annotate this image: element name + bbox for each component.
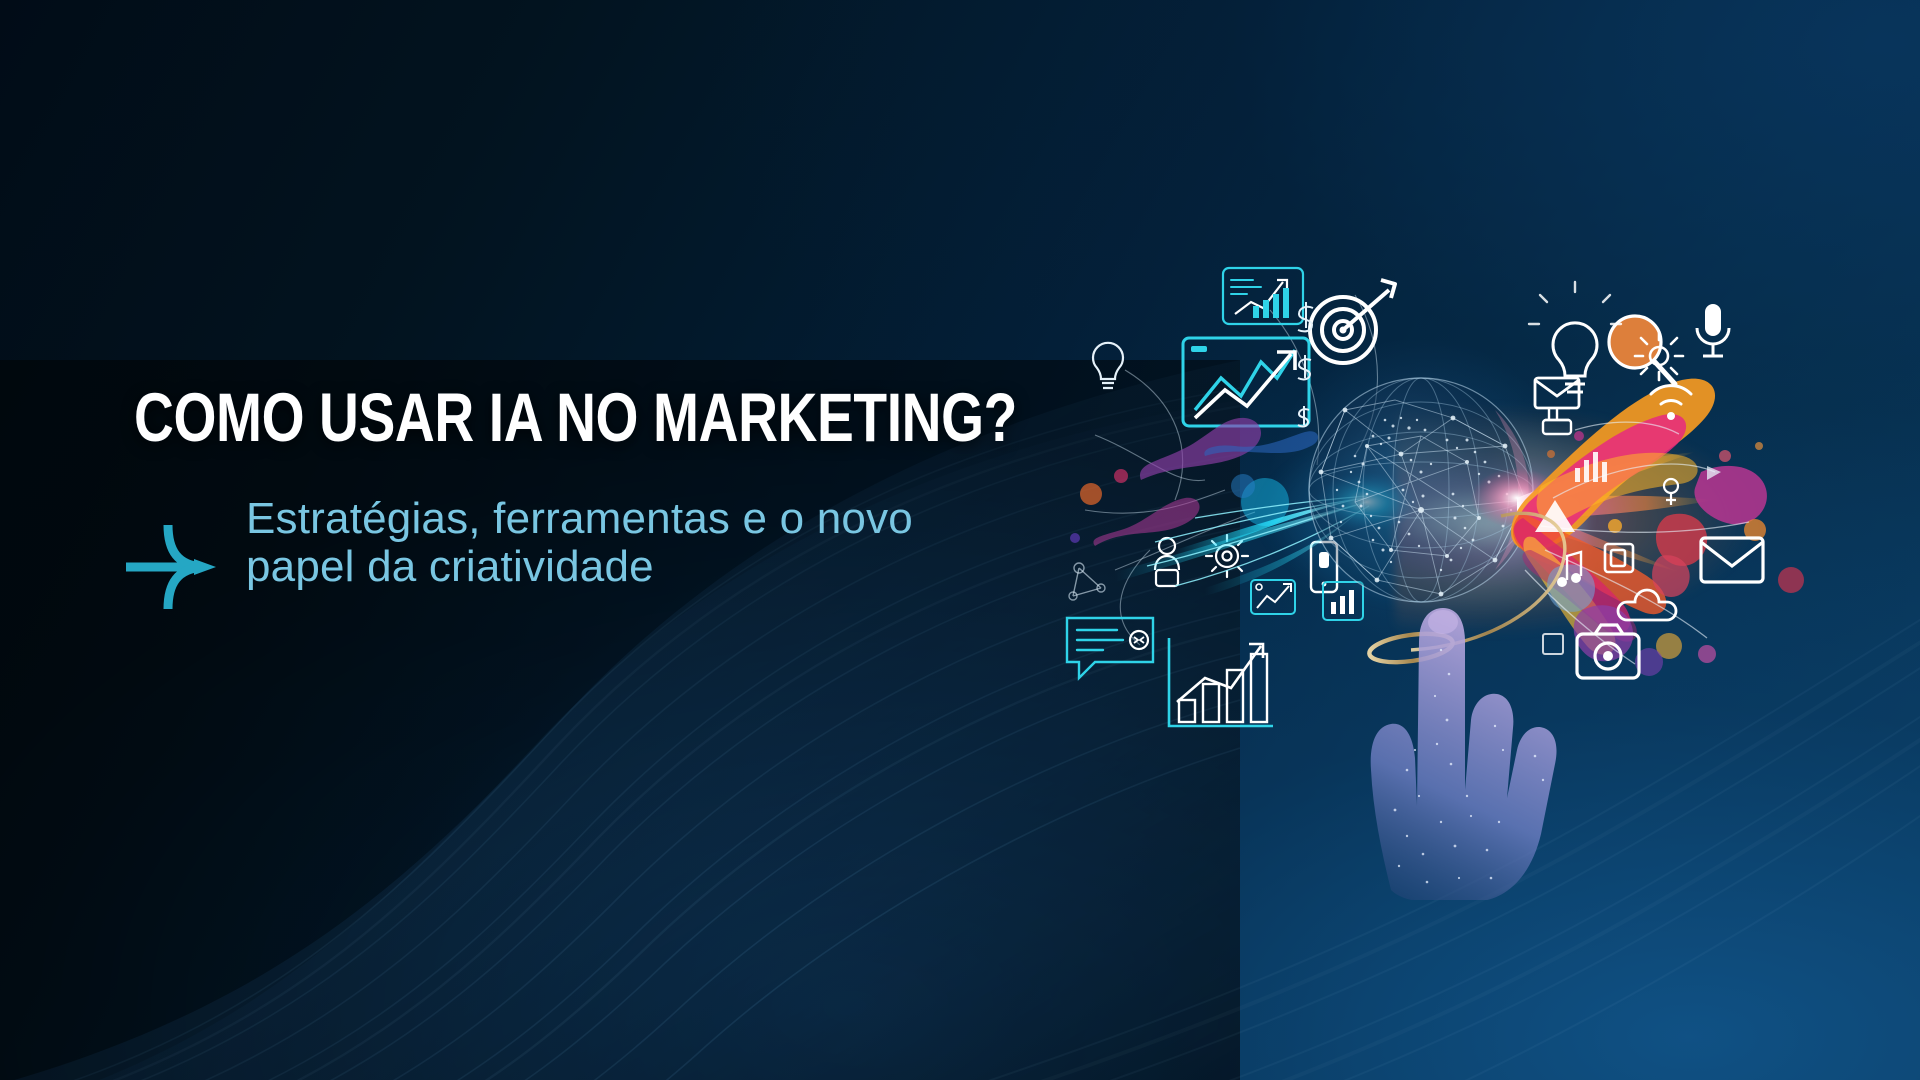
target-dartboard-icon: [1310, 280, 1395, 363]
share-node-icon: [1635, 332, 1683, 380]
envelope-icon: [1535, 378, 1579, 434]
growth-chart-window-icon: [1183, 338, 1309, 426]
slide-root: COMO USAR IA NO MARKETING? Estratégias, …: [0, 0, 1920, 1080]
pointing-hand: [1371, 608, 1557, 900]
arrow-right-icon: [124, 521, 224, 613]
lightbulb-icon: [1093, 343, 1123, 388]
page-title: COMO USAR IA NO MARKETING?: [134, 386, 838, 451]
image-chart-icon: [1251, 580, 1295, 614]
subtitle-row: Estratégias, ferramentas e o novo papel …: [134, 495, 1014, 613]
microphone-icon: [1697, 304, 1729, 356]
mail-open-icon: [1701, 538, 1763, 582]
ai-marketing-illustration: [1055, 250, 1815, 900]
page-subtitle: Estratégias, ferramentas e o novo papel …: [246, 495, 986, 591]
picture-frame-icon: [1543, 634, 1563, 654]
chat-bubble-icon: [1067, 618, 1153, 678]
bar-chart-icon: [1169, 638, 1273, 726]
equalizer-bars-icon: [1323, 582, 1363, 620]
artwork-caption: ai-marketing-illustration: [0, 0, 1, 1]
line-chart-window-icon: [1223, 268, 1303, 324]
headline-block: COMO USAR IA NO MARKETING? Estratégias, …: [134, 386, 1014, 613]
creativity-paint-splash-cluster: [1511, 282, 1804, 678]
lightbulb-icon: [1529, 282, 1621, 392]
